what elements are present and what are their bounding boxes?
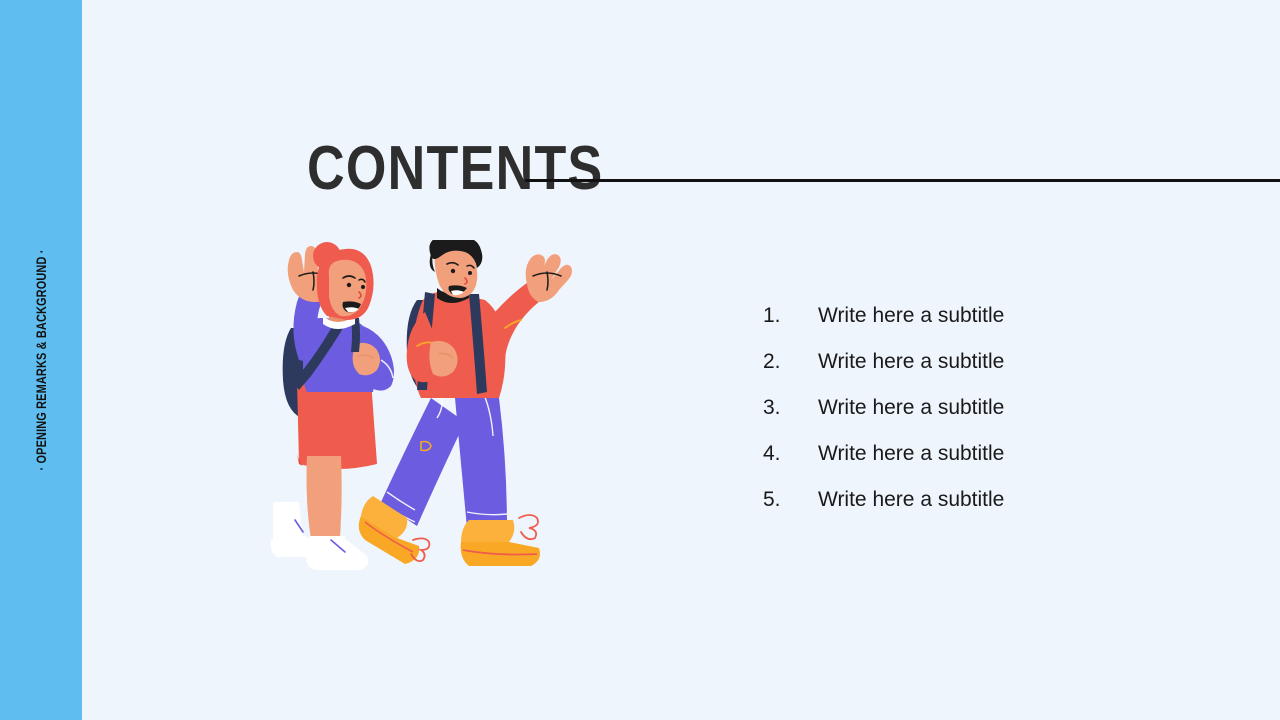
list-item-label: Write here a subtitle (818, 396, 1004, 420)
two-students-waving-illustration (255, 240, 575, 590)
slide: · OPENING REMARKS & BACKGROUND · CONTENT… (0, 0, 1280, 720)
sidebar: · OPENING REMARKS & BACKGROUND · (0, 0, 82, 720)
right-student-back-leg (381, 398, 465, 526)
right-student-figure (359, 240, 572, 566)
left-student-front-shoe (306, 536, 368, 570)
list-item-label: Write here a subtitle (818, 304, 1004, 328)
page-title: CONTENTS (307, 138, 604, 200)
list-item-number: 3. (763, 396, 818, 420)
list-item-label: Write here a subtitle (818, 442, 1004, 466)
list-item[interactable]: 1. Write here a subtitle (763, 304, 1183, 350)
list-item-number: 5. (763, 488, 818, 512)
title-divider-rule (525, 179, 1280, 182)
right-student-raised-hand (526, 254, 572, 302)
list-item[interactable]: 3. Write here a subtitle (763, 396, 1183, 442)
list-item-label: Write here a subtitle (818, 488, 1004, 512)
list-item[interactable]: 2. Write here a subtitle (763, 350, 1183, 396)
right-student-front-leg (455, 398, 507, 528)
sidebar-section-label: · OPENING REMARKS & BACKGROUND · (33, 250, 49, 471)
list-item[interactable]: 5. Write here a subtitle (763, 488, 1183, 534)
right-student-front-boot (461, 515, 540, 566)
list-item[interactable]: 4. Write here a subtitle (763, 442, 1183, 488)
list-item-number: 1. (763, 304, 818, 328)
list-item-number: 4. (763, 442, 818, 466)
contents-list: 1. Write here a subtitle 2. Write here a… (763, 304, 1183, 534)
list-item-number: 2. (763, 350, 818, 374)
title-row: CONTENTS (307, 138, 1280, 202)
left-student-skirt (297, 380, 377, 469)
list-item-label: Write here a subtitle (818, 350, 1004, 374)
